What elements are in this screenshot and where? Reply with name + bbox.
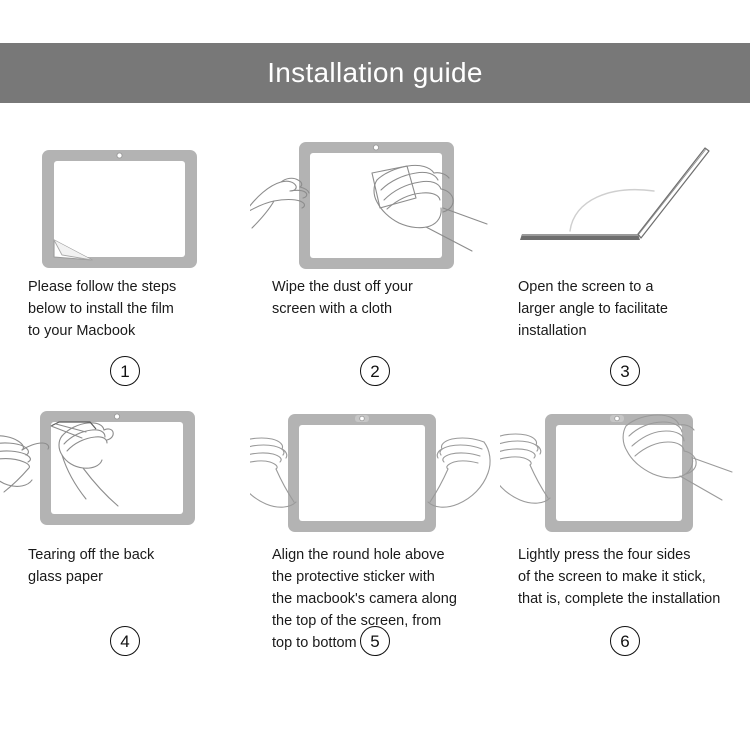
step-3-badge-row: 3 bbox=[500, 356, 750, 386]
step-1-badge-row: 1 bbox=[0, 356, 250, 386]
tablet-icon bbox=[40, 411, 195, 525]
step-card-5: Align the round hole above the protectiv… bbox=[250, 396, 500, 664]
step-6-line-2: of the screen to make it stick, bbox=[518, 566, 738, 588]
step-number-badge: 2 bbox=[360, 356, 390, 386]
step-1-line-3: to your Macbook bbox=[28, 320, 238, 342]
step-6-line-3: that is, complete the installation bbox=[518, 588, 738, 610]
step-number-badge: 4 bbox=[110, 626, 140, 656]
step-4-text: Tearing off the back glass paper bbox=[0, 544, 250, 588]
step-3-illustration bbox=[500, 128, 750, 276]
step-4-line-1: Tearing off the back bbox=[28, 544, 238, 566]
installation-guide-page: Installation guide bbox=[0, 0, 750, 750]
laptop-side-profile-icon bbox=[520, 148, 709, 240]
step-1-line-2: below to install the film bbox=[28, 298, 238, 320]
right-hand-icon bbox=[428, 438, 490, 507]
step-4-badge-row: 4 bbox=[0, 626, 250, 656]
step-6-illustration bbox=[500, 396, 750, 544]
tablet-icon bbox=[288, 414, 436, 532]
step-card-2: Wipe the dust off your screen with a clo… bbox=[250, 128, 500, 396]
step-5-line-3: the macbook's camera along bbox=[272, 588, 488, 610]
step-3-line-3: installation bbox=[518, 320, 738, 342]
step-2-badge-row: 2 bbox=[250, 356, 500, 386]
step-number-badge: 3 bbox=[610, 356, 640, 386]
step-5-line-2: the protective sticker with bbox=[272, 566, 488, 588]
page-title: Installation guide bbox=[267, 57, 483, 89]
step-6-line-1: Lightly press the four sides bbox=[518, 544, 738, 566]
step-card-3: Open the screen to a larger angle to fac… bbox=[500, 128, 750, 396]
step-2-illustration bbox=[250, 128, 500, 276]
step-card-1: Please follow the steps below to install… bbox=[0, 128, 250, 396]
tablet-icon bbox=[299, 142, 454, 269]
left-hand-icon bbox=[500, 434, 550, 503]
step-5-line-1: Align the round hole above bbox=[272, 544, 488, 566]
steps-grid: Please follow the steps below to install… bbox=[0, 128, 750, 664]
step-card-6: Lightly press the four sides of the scre… bbox=[500, 396, 750, 664]
step-1-text: Please follow the steps below to install… bbox=[0, 276, 250, 342]
step-number-badge: 5 bbox=[360, 626, 390, 656]
step-5-badge-row: 5 bbox=[250, 626, 500, 656]
step-6-text: Lightly press the four sides of the scre… bbox=[500, 544, 750, 610]
step-card-4: Tearing off the back glass paper 4 bbox=[0, 396, 250, 664]
open-motion-arc-icon bbox=[570, 190, 654, 231]
step-6-badge-row: 6 bbox=[500, 626, 750, 656]
step-3-text: Open the screen to a larger angle to fac… bbox=[500, 276, 750, 342]
step-number-badge: 1 bbox=[110, 356, 140, 386]
step-4-line-2: glass paper bbox=[28, 566, 238, 588]
step-2-line-1: Wipe the dust off your bbox=[272, 276, 488, 298]
step-3-line-2: larger angle to facilitate bbox=[518, 298, 738, 320]
header-banner: Installation guide bbox=[0, 43, 750, 103]
step-5-illustration bbox=[250, 396, 500, 544]
step-1-line-1: Please follow the steps bbox=[28, 276, 238, 298]
step-1-illustration bbox=[0, 128, 250, 276]
step-2-line-2: screen with a cloth bbox=[272, 298, 488, 320]
step-2-text: Wipe the dust off your screen with a clo… bbox=[250, 276, 500, 320]
step-4-illustration bbox=[0, 396, 250, 544]
step-number-badge: 6 bbox=[610, 626, 640, 656]
step-3-line-1: Open the screen to a bbox=[518, 276, 738, 298]
